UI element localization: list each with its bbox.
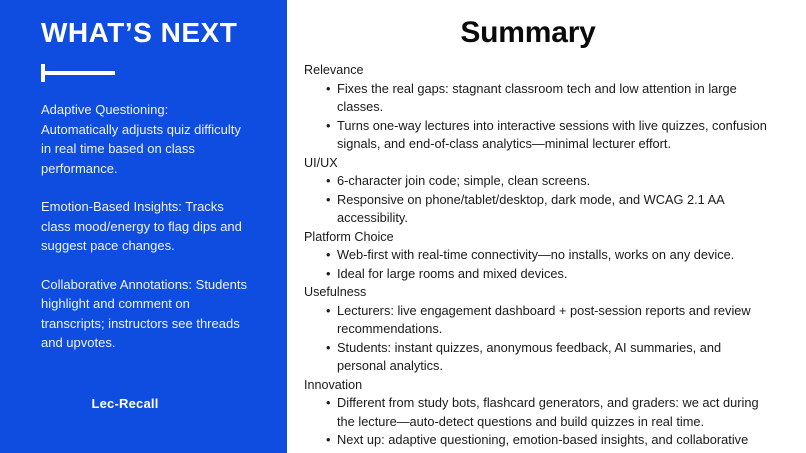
list-item: Different from study bots, flashcard gen… <box>326 394 770 431</box>
list-item: Lecturers: live engagement dashboard + p… <box>326 302 770 339</box>
list-item: Adaptive Questioning: Automatically adju… <box>41 100 247 178</box>
section-heading: UI/UX <box>304 154 770 173</box>
section-platform-choice: Platform Choice Web-first with real-time… <box>304 228 770 284</box>
list-item: Students: instant quizzes, anonymous fee… <box>326 339 770 376</box>
list-item: Web-first with real-time connectivity—no… <box>326 246 770 265</box>
section-bullets: Different from study bots, flashcard gen… <box>304 394 770 453</box>
list-item: Next up: adaptive questioning, emotion-b… <box>326 431 770 453</box>
panel-title: WHAT’S NEXT <box>41 18 247 47</box>
list-item: Turns one-way lectures into interactive … <box>326 117 770 154</box>
section-heading: Usefulness <box>304 283 770 302</box>
summary-sections: Relevance Fixes the real gaps: stagnant … <box>304 61 770 453</box>
section-relevance: Relevance Fixes the real gaps: stagnant … <box>304 61 770 154</box>
section-usefulness: Usefulness Lecturers: live engagement da… <box>304 283 770 376</box>
whats-next-panel: WHAT’S NEXT Adaptive Questioning: Automa… <box>0 0 287 453</box>
section-heading: Relevance <box>304 61 770 80</box>
section-bullets: 6-character join code; simple, clean scr… <box>304 172 770 228</box>
bar-rule-line <box>41 71 115 75</box>
list-item: Collaborative Annotations: Students high… <box>41 275 247 353</box>
bar-rule-icon <box>41 64 115 82</box>
list-item: Responsive on phone/tablet/desktop, dark… <box>326 191 770 228</box>
section-bullets: Fixes the real gaps: stagnant classroom … <box>304 80 770 154</box>
panel-spacer <box>41 372 247 396</box>
list-item: Emotion-Based Insights: Tracks class moo… <box>41 197 247 256</box>
list-item: 6-character join code; simple, clean scr… <box>326 172 770 191</box>
section-heading: Platform Choice <box>304 228 770 247</box>
bar-rule-cap <box>41 64 45 82</box>
list-item: Fixes the real gaps: stagnant classroom … <box>326 80 770 117</box>
section-heading: Innovation <box>304 376 770 395</box>
page-title: Summary <box>304 16 770 50</box>
section-ui-ux: UI/UX 6-character join code; simple, cle… <box>304 154 770 228</box>
section-innovation: Innovation Different from study bots, fl… <box>304 376 770 453</box>
brand-footer: Lec-Recall <box>41 396 247 453</box>
section-bullets: Lecturers: live engagement dashboard + p… <box>304 302 770 376</box>
section-bullets: Web-first with real-time connectivity—no… <box>304 246 770 283</box>
slide-root: WHAT’S NEXT Adaptive Questioning: Automa… <box>0 0 806 453</box>
list-item: Ideal for large rooms and mixed devices. <box>326 265 770 284</box>
whats-next-list: Adaptive Questioning: Automatically adju… <box>41 100 247 372</box>
summary-panel: Summary Relevance Fixes the real gaps: s… <box>287 0 806 453</box>
